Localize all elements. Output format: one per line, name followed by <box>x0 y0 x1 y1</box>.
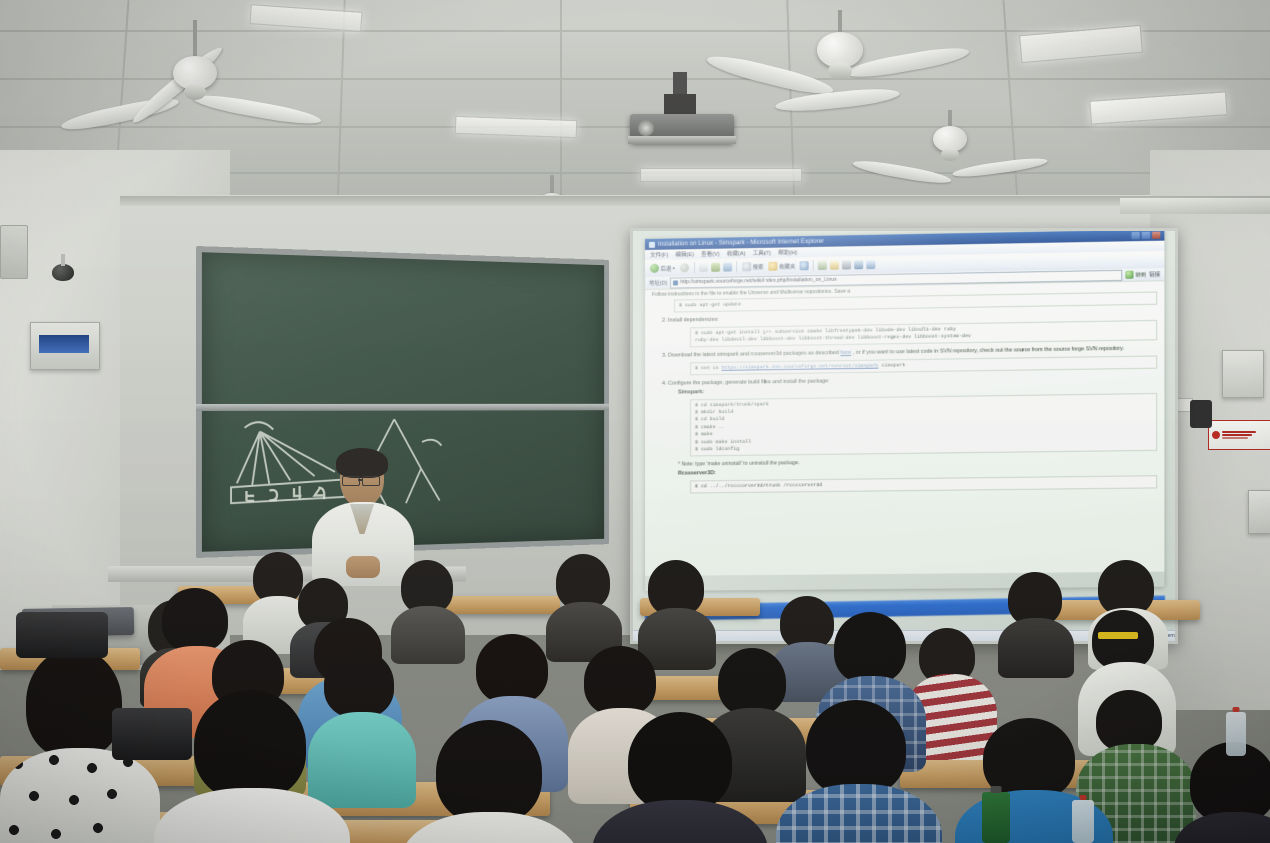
student <box>1180 742 1270 843</box>
thermos-cap <box>991 786 1002 793</box>
student-clothing <box>776 784 942 843</box>
bottle-cap <box>1233 707 1240 712</box>
instructor-hair <box>336 448 388 478</box>
instructor-glasses <box>362 476 380 486</box>
student-clothing <box>998 618 1074 678</box>
step-2-code: $ sudo apt-get install g++ subversion cm… <box>690 320 1157 348</box>
refresh-icon[interactable] <box>711 263 720 272</box>
wall-telephone <box>1190 400 1212 428</box>
student-clothing <box>400 812 580 843</box>
student-hair <box>476 634 548 704</box>
media-icon[interactable] <box>799 261 808 270</box>
student-hair <box>1096 690 1162 752</box>
water-bottle <box>1226 712 1246 756</box>
toolbar-divider <box>813 260 814 271</box>
sunglasses-icon <box>1098 632 1138 639</box>
student <box>640 560 712 652</box>
ceiling-fan <box>100 20 290 150</box>
student-hair <box>628 712 732 812</box>
minimize-button[interactable] <box>1131 232 1139 239</box>
step-3-code: $ svn co https://simspark.svn.sourceforg… <box>690 355 1157 375</box>
search-button[interactable]: 搜索 <box>741 262 764 271</box>
history-icon[interactable] <box>818 261 827 270</box>
step-2: Install dependencies: $ sudo apt-get ins… <box>668 310 1157 348</box>
menu-help[interactable]: 帮助(H) <box>778 248 797 256</box>
menu-edit[interactable]: 编辑(E) <box>675 250 694 258</box>
backpack <box>16 612 108 658</box>
favorites-button[interactable]: 收藏夹 <box>767 261 796 271</box>
favorites-label: 收藏夹 <box>779 262 795 270</box>
glasses-bridge <box>358 479 363 481</box>
toolbar-divider <box>736 261 737 272</box>
stop-icon[interactable] <box>699 263 708 272</box>
instructor-glasses <box>342 476 360 486</box>
edit-icon[interactable] <box>854 260 863 269</box>
svn-url-link[interactable]: https://simspark.svn.sourceforge.net/svn… <box>722 364 879 371</box>
instruction-steps: Install dependencies: $ sudo apt-get ins… <box>652 310 1157 494</box>
print-icon[interactable] <box>842 260 851 269</box>
search-label: 搜索 <box>753 262 764 270</box>
classroom-scene: Installation on Linux - Simspark - Micro… <box>0 0 1270 843</box>
back-label: 后退 <box>660 264 671 272</box>
student <box>395 560 461 650</box>
student-hair <box>834 612 906 684</box>
water-bottle <box>1072 800 1094 843</box>
favorites-icon <box>768 262 777 271</box>
links-label[interactable]: 链接 <box>1149 270 1160 278</box>
menu-tools[interactable]: 工具(T) <box>753 249 771 257</box>
chevron-down-icon[interactable]: ▾ <box>673 265 675 270</box>
student-clothing <box>0 748 160 843</box>
address-url: http://simspark.sourceforge.net/wiki/ind… <box>680 277 836 286</box>
window-controls[interactable] <box>1131 232 1160 240</box>
student-clothing <box>592 800 768 843</box>
code-suffix: simspark <box>878 363 905 368</box>
student-hair <box>26 648 122 758</box>
warning-sign <box>1208 420 1270 450</box>
student <box>600 712 760 843</box>
step-4: Configure the package, generate build fi… <box>668 374 1157 494</box>
messenger-icon[interactable] <box>866 260 875 269</box>
right-wall-trim <box>1120 198 1270 214</box>
wall-switch-panel[interactable] <box>1248 490 1270 534</box>
student-hair <box>806 700 906 796</box>
page-content: Follow instructions in the file to enabl… <box>645 280 1164 576</box>
student-hair <box>718 648 786 716</box>
instructor-hands <box>346 556 380 578</box>
backpack <box>112 708 192 760</box>
browser-window[interactable]: Installation on Linux - Simspark - Micro… <box>645 231 1164 591</box>
close-button[interactable] <box>1152 232 1160 239</box>
mail-icon[interactable] <box>830 261 839 270</box>
back-icon <box>650 264 659 273</box>
go-icon <box>1126 271 1134 279</box>
wall-junction-box <box>1222 350 1264 398</box>
code-prefix: $ svn co <box>695 366 722 371</box>
student <box>782 700 932 843</box>
wall-control-panel[interactable] <box>30 322 100 370</box>
security-camera <box>52 264 74 281</box>
toolbar-divider <box>694 262 695 273</box>
warning-sign-icon <box>1212 431 1220 439</box>
wall-speaker <box>0 225 28 279</box>
step-3: Download the latest simspark and rcssser… <box>668 345 1157 375</box>
bottle-cap <box>1080 795 1087 800</box>
student-hair <box>1092 610 1154 670</box>
projector-bracket <box>664 94 696 116</box>
control-panel-display <box>39 335 89 353</box>
forward-icon <box>680 263 689 272</box>
search-icon <box>742 262 751 271</box>
window-title: Installation on Linux - Simspark - Micro… <box>658 238 824 247</box>
step-4-text: Configure the package, generate build fi… <box>668 378 830 386</box>
student-hair <box>584 646 656 716</box>
step-4-code-2: $ cd ../../rcssserver3d/trunk /rcssserve… <box>690 475 1157 493</box>
step-3-text-before: Download the latest simspark and rcssser… <box>668 350 840 359</box>
student-clothing <box>154 788 350 843</box>
student <box>404 720 574 843</box>
home-icon[interactable] <box>723 262 732 271</box>
step-4-code: $ cd simspark/trunk/spark $ mkdir build … <box>690 393 1157 457</box>
step-2-text: Install dependencies: <box>668 317 719 324</box>
menu-file[interactable]: 文件(F) <box>650 251 668 259</box>
wall-trim <box>120 196 1270 206</box>
student <box>1000 572 1070 662</box>
maximize-button[interactable] <box>1142 232 1150 239</box>
student-hair <box>436 720 542 824</box>
projector <box>620 72 740 162</box>
step-3-text-after: , or if you want to use latest code in S… <box>851 346 1124 356</box>
go-label: 转到 <box>1135 271 1146 278</box>
address-label: 地址(D) <box>649 279 667 287</box>
menu-view[interactable]: 查看(V) <box>701 250 720 258</box>
go-button[interactable]: 转到 <box>1126 270 1146 278</box>
student-clothing <box>1174 812 1270 843</box>
student <box>548 554 618 646</box>
projector-lens <box>638 120 654 136</box>
menu-favorites[interactable]: 收藏(A) <box>727 249 746 257</box>
here-link[interactable]: here <box>840 350 851 356</box>
page-favicon <box>673 280 678 285</box>
ie-icon <box>649 241 655 247</box>
warning-sign-text <box>1222 431 1256 439</box>
back-button[interactable]: 后退 ▾ <box>649 263 676 272</box>
student-hair <box>194 690 306 800</box>
thermos <box>982 792 1010 843</box>
forward-button[interactable] <box>679 263 690 272</box>
ceiling-light-panel <box>640 168 802 182</box>
